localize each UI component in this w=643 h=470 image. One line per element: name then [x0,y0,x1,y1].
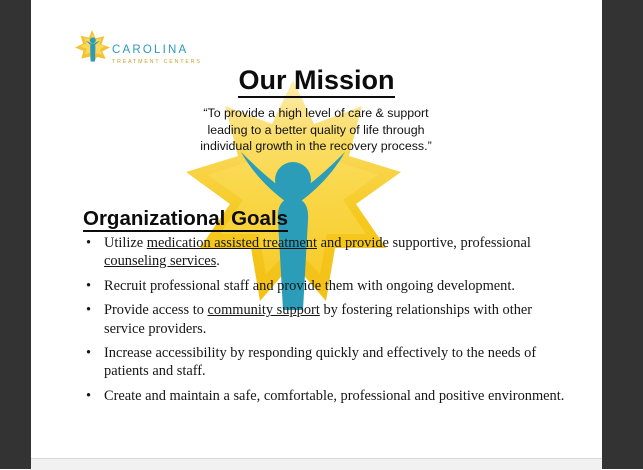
goal-text: Increase accessibility by responding qui… [104,345,536,379]
bullet-icon: • [86,234,91,252]
goal-item: •Create and maintain a safe, comfortable… [83,387,573,405]
goal-item: •Provide access to community support by … [83,301,573,337]
document-viewer: CAROLINA TREATMENT CENTERS [0,0,643,469]
goal-text: Provide access to [104,302,208,318]
mission-title: Our Mission [31,66,602,95]
goal-text: Utilize [104,235,147,251]
goals-list: •Utilize medication assisted treatment a… [83,234,573,412]
logo-tagline: TREATMENT CENTERS [112,60,217,65]
mission-quote: “To provide a high level of care & suppo… [161,105,471,155]
goal-item: •Recruit professional staff and provide … [83,277,573,295]
company-logo: CAROLINA TREATMENT CENTERS [72,28,212,68]
goal-link[interactable]: medication assisted treatment [147,235,317,251]
goal-item: •Increase accessibility by responding qu… [83,344,573,380]
mission-quote-line-3: individual growth in the recovery proces… [161,138,471,155]
viewer-left-gutter [0,0,31,469]
logo-company-name: CAROLINA [112,45,217,57]
mission-title-text: Our Mission [238,65,394,98]
bullet-icon: • [86,301,91,319]
bullet-icon: • [86,344,91,362]
goal-text: Create and maintain a safe, comfortable,… [104,388,564,404]
goals-heading: Organizational Goals [83,208,288,231]
goal-item: •Utilize medication assisted treatment a… [83,234,573,270]
goal-text: Recruit professional staff and provide t… [104,278,515,294]
goal-link[interactable]: community support [208,302,320,318]
starburst-person-logo-icon [72,28,114,62]
mission-quote-line-2: leading to a better quality of life thro… [161,122,471,139]
goals-heading-text: Organizational Goals [83,207,288,232]
bullet-icon: • [86,387,91,405]
mission-quote-line-1: “To provide a high level of care & suppo… [161,105,471,122]
slide-page: CAROLINA TREATMENT CENTERS [31,0,602,458]
goal-text: . [216,253,220,269]
goal-link[interactable]: counseling services [104,253,216,269]
logo-wordmark: CAROLINA TREATMENT CENTERS [112,45,217,65]
page-bottom-edge [31,458,602,470]
viewer-right-gutter [602,0,643,469]
goal-text: and provide supportive, professional [317,235,531,251]
bullet-icon: • [86,277,91,295]
